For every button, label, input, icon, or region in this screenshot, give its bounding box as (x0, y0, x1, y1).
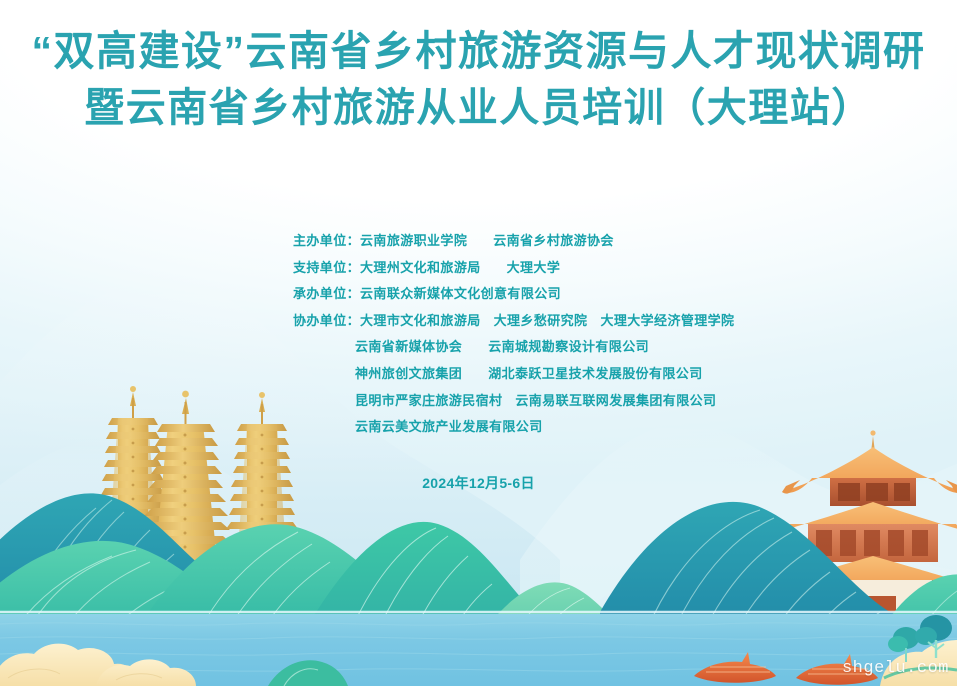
title-line-1: “双高建设”云南省乡村旅游资源与人才现状调研 (0, 22, 957, 80)
watermark: shgelu.com (842, 659, 949, 678)
organizer-value: 云南联众新媒体文化创意有限公司 (360, 281, 561, 308)
organizer-value: 大理州文化和旅游局 (360, 255, 481, 282)
organizer-row-4: 云南省新媒体协会云南城规勘察设计有限公司 (293, 334, 734, 361)
poster-canvas: “双高建设”云南省乡村旅游资源与人才现状调研 暨云南省乡村旅游从业人员培训（大理… (0, 0, 957, 686)
organizers-block: 主办单位：云南旅游职业学院云南省乡村旅游协会 支持单位：大理州文化和旅游局大理大… (293, 228, 734, 441)
organizer-value: 云南省乡村旅游协会 (493, 228, 614, 255)
organizer-row-1: 支持单位：大理州文化和旅游局大理大学 (293, 255, 734, 282)
organizer-label: 协办单位： (293, 308, 360, 335)
poster-title: “双高建设”云南省乡村旅游资源与人才现状调研 暨云南省乡村旅游从业人员培训（大理… (0, 22, 957, 137)
organizer-value: 云南旅游职业学院 (360, 228, 467, 255)
organizer-label: 主办单位： (293, 228, 360, 255)
organizer-row-3: 协办单位：大理市文化和旅游局大理乡愁研究院大理大学经济管理学院 (293, 308, 734, 335)
organizer-value: 云南省新媒体协会 (355, 334, 462, 361)
organizer-row-7: 云南云美文旅产业发展有限公司 (293, 414, 734, 441)
organizer-value: 昆明市严家庄旅游民宿村 (355, 388, 502, 415)
organizer-label: 承办单位： (293, 281, 360, 308)
organizer-row-6: 昆明市严家庄旅游民宿村云南易联互联网发展集团有限公司 (293, 388, 734, 415)
title-line-2: 暨云南省乡村旅游从业人员培训（大理站） (0, 80, 957, 137)
organizer-value: 大理大学 (507, 255, 561, 282)
organizer-value: 大理市文化和旅游局 (360, 308, 481, 335)
organizer-value: 神州旅创文旅集团 (355, 361, 462, 388)
organizer-value: 云南易联互联网发展集团有限公司 (515, 388, 716, 415)
organizer-label: 支持单位： (293, 255, 360, 282)
organizer-value: 云南云美文旅产业发展有限公司 (355, 414, 543, 441)
organizer-row-0: 主办单位：云南旅游职业学院云南省乡村旅游协会 (293, 228, 734, 255)
event-date: 2024年12月5-6日 (0, 473, 957, 493)
organizer-value: 大理乡愁研究院 (494, 308, 588, 335)
organizer-row-2: 承办单位：云南联众新媒体文化创意有限公司 (293, 281, 734, 308)
organizer-row-5: 神州旅创文旅集团湖北泰跃卫星技术发展股份有限公司 (293, 361, 734, 388)
organizer-value: 湖北泰跃卫星技术发展股份有限公司 (488, 361, 702, 388)
organizer-value: 大理大学经济管理学院 (600, 308, 734, 335)
organizer-value: 云南城规勘察设计有限公司 (488, 334, 649, 361)
